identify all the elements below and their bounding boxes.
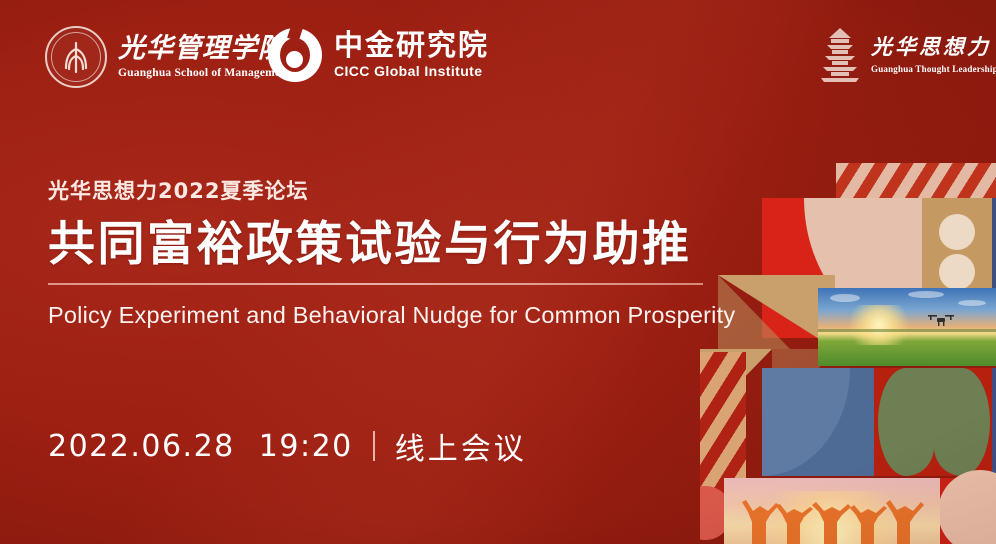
meta-separator <box>373 431 375 461</box>
poster-title: 共同富裕政策试验与行为助推 <box>48 219 728 272</box>
event-venue: 线上会议 <box>395 424 527 468</box>
title-divider <box>48 283 703 285</box>
forum-poster: 光华管理学院 Guanghua School of Management 中金研… <box>0 0 996 544</box>
event-meta: 2022.06.28 19:20 线上会议 <box>48 424 527 468</box>
forum-kicker: 光华思想力2022夏季论坛 <box>48 175 728 205</box>
poster-subtitle: Policy Experiment and Behavioral Nudge f… <box>48 302 728 329</box>
poster-content: 光华思想力2022夏季论坛 共同富裕政策试验与行为助推 Policy Exper… <box>48 175 728 329</box>
event-date: 2022.06.28 <box>48 429 235 464</box>
event-time: 19:20 <box>259 429 353 464</box>
